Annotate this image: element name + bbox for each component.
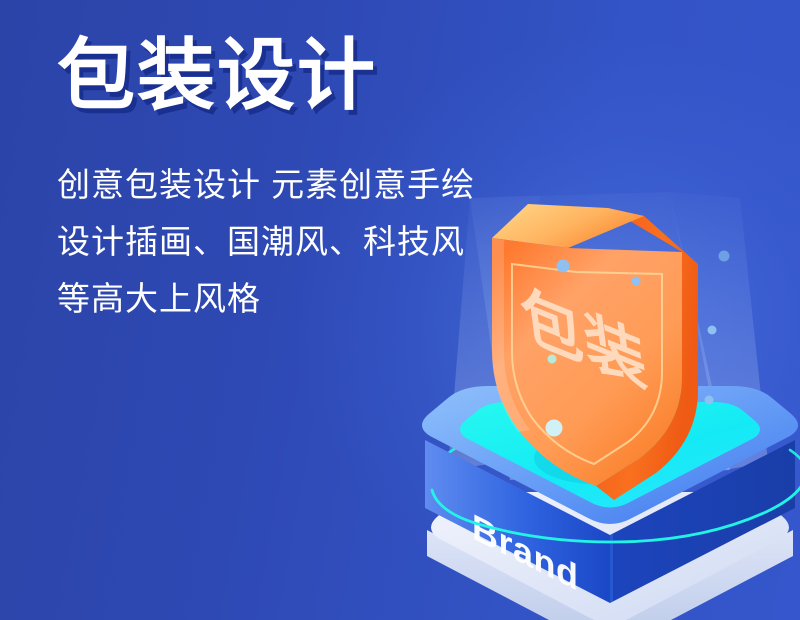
dot-6	[548, 355, 557, 364]
page-title: 包装设计	[57, 36, 537, 114]
cube-bottom-edge-highlight	[610, 534, 613, 603]
dot-2	[632, 277, 641, 286]
illustration: Brand 包装	[400, 140, 800, 620]
dot-3	[719, 251, 730, 262]
dot-7	[546, 420, 563, 437]
dot-4	[708, 326, 717, 335]
dot-1	[557, 260, 570, 273]
packaging-design-banner: 包装设计 创意包装设计 元素创意手绘 设计插画、国潮风、科技风 等高大上风格	[0, 0, 800, 620]
dot-5	[705, 396, 714, 405]
